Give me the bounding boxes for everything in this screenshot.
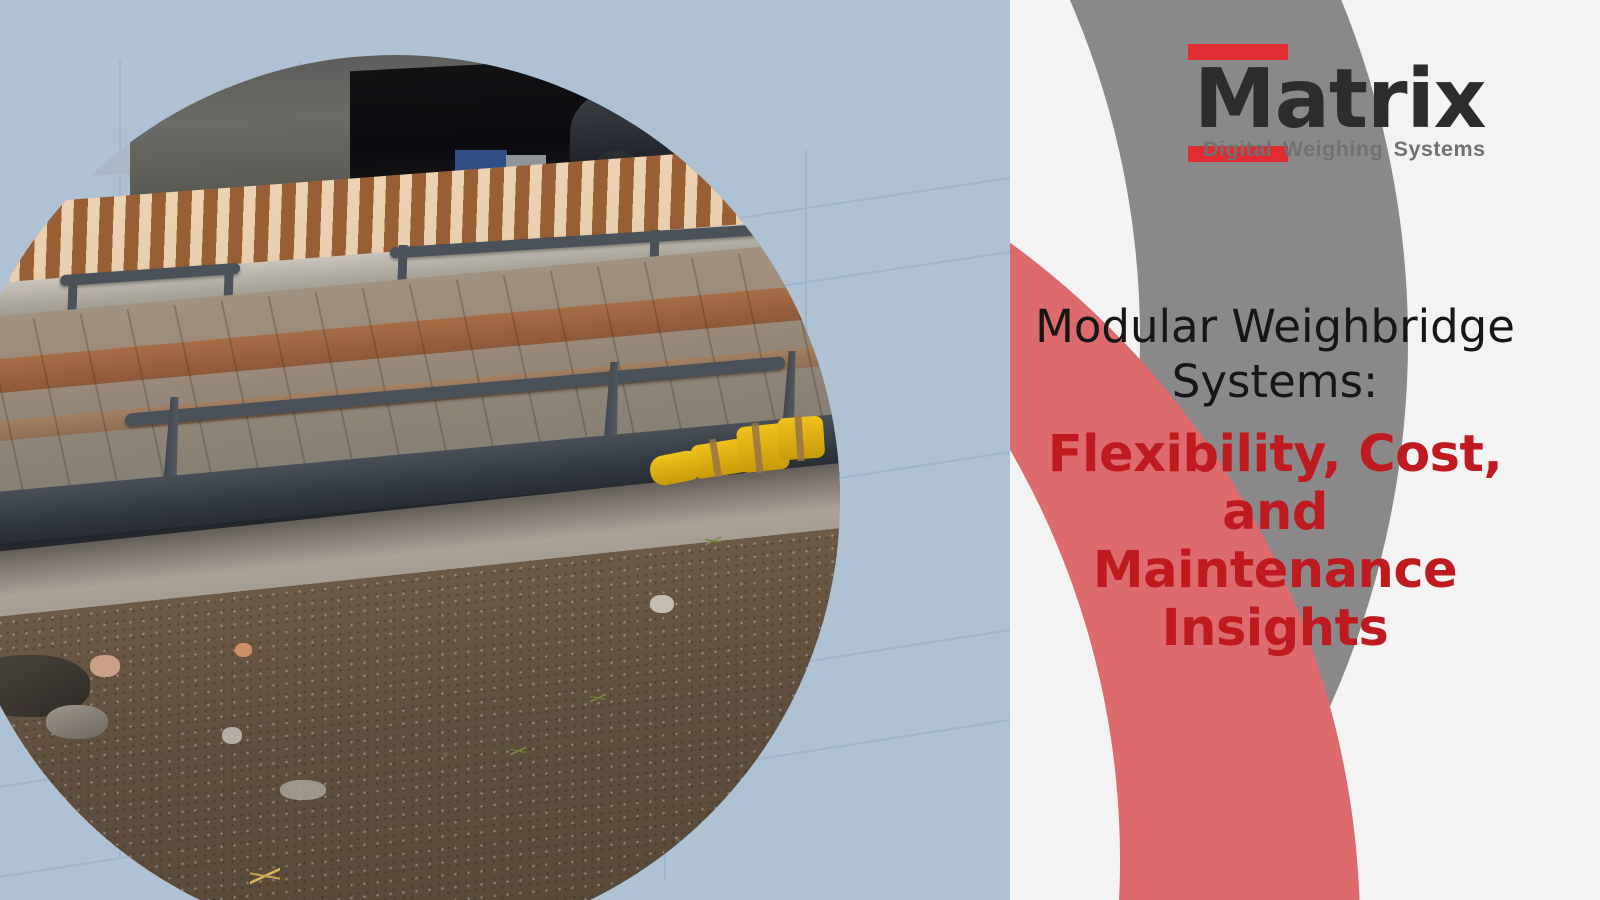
headline-block: Modular Weighbridge Systems: Flexibility… <box>985 300 1565 658</box>
matrix-logo[interactable]: Matrix Digital Weighing Systems <box>1188 42 1528 162</box>
headline-subtitle: Modular Weighbridge Systems: <box>985 300 1565 410</box>
headline-subtitle-line-2: Systems: <box>985 355 1565 410</box>
headline-main-line-2: and <box>985 484 1565 542</box>
logo-tagline: Digital Weighing Systems <box>1198 137 1486 162</box>
headline-main-line-3: Maintenance <box>985 542 1565 600</box>
headline-main-line-1: Flexibility, Cost, <box>985 426 1565 484</box>
headline-main-line-4: Insights <box>985 600 1565 658</box>
weighbridge-photo <box>0 55 840 900</box>
headline-main: Flexibility, Cost, and Maintenance Insig… <box>985 426 1565 659</box>
banner-canvas: Matrix Digital Weighing Systems Modular … <box>0 0 1600 900</box>
logo-wordmark: Matrix <box>1194 66 1486 135</box>
headline-subtitle-line-1: Modular Weighbridge <box>985 300 1565 355</box>
